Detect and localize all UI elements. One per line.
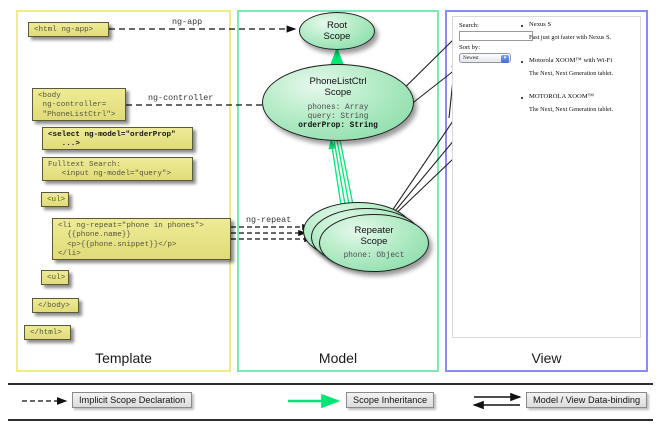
search-label: Search: — [459, 22, 479, 29]
sort-select[interactable]: Newest ▾ — [459, 53, 511, 63]
scope-repeater-title-2: Scope — [320, 236, 428, 247]
scope-repeater: Repeater Scope phone: Object — [319, 214, 429, 272]
scope-repeater-title-1: Repeater — [320, 225, 428, 236]
view-rendered-app: Search: Sort by: Newest ▾ Nexus S Fast j… — [452, 16, 641, 338]
scope-ctrl-title-2: Scope — [263, 87, 413, 98]
scope-repeater-prop-phone: phone: Object — [320, 252, 428, 261]
phone-snippet: The Next, Next Generation tablet. — [529, 70, 613, 77]
phone-name[interactable]: MOTOROLA XOOM™ — [529, 93, 594, 100]
scope-ctrl-prop-orderprop: orderProp: String — [263, 122, 413, 131]
scope-root-title-1: Root — [300, 20, 374, 31]
phone-snippet: Fast just got faster with Nexus S. — [529, 34, 611, 41]
edge-label-ng-repeat: ng-repeat — [246, 215, 291, 225]
search-input[interactable] — [459, 31, 533, 41]
code-body-close: </body> — [32, 298, 79, 313]
list-bullet — [521, 97, 523, 99]
panel-model-title: Model — [239, 350, 437, 366]
scope-ctrl-title-1: PhoneListCtrl — [263, 76, 413, 87]
sort-label: Sort by: — [459, 44, 480, 51]
code-ul-open: <ul> — [41, 192, 69, 207]
code-ul-close: <ul> — [41, 270, 69, 285]
scope-ctrl-prop-query: query: String — [263, 113, 413, 122]
panel-view-title: View — [447, 350, 646, 366]
code-input-tag: Fulltext Search: <input ng-model="query"… — [42, 157, 193, 181]
edge-label-ng-app: ng-app — [172, 17, 202, 27]
code-body-tag: <body ng-controller= "PhoneListCtrl"> — [32, 88, 126, 121]
panel-template: Template — [16, 10, 231, 372]
code-li-repeat: <li ng-repeat="phone in phones"> {{phone… — [52, 218, 231, 260]
sort-select-value: Newest — [463, 55, 479, 61]
panel-template-title: Template — [18, 350, 229, 366]
legend: Implicit Scope Declaration Scope Inherit… — [8, 383, 653, 421]
phone-snippet: The Next, Next Generation tablet. — [529, 106, 613, 113]
legend-scope-inheritance: Scope Inheritance — [346, 392, 434, 408]
scope-root: Root Scope — [299, 12, 375, 50]
phone-name[interactable]: Nexus S — [529, 21, 551, 28]
phone-name[interactable]: Motorola XOOM™ with Wi-Fi — [529, 57, 612, 64]
legend-model-view-data-binding: Model / View Data-binding — [526, 392, 647, 408]
list-bullet — [521, 25, 523, 27]
scope-ctrl-prop-phones: phones: Array — [263, 104, 413, 113]
code-html-tag: <html ng-app> — [28, 22, 109, 37]
scope-phonelistctrl: PhoneListCtrl Scope phones: Array query:… — [262, 64, 414, 141]
scope-root-title-2: Scope — [300, 31, 374, 42]
list-bullet — [521, 61, 523, 63]
code-select-tag: <select ng-model="orderProp" ...> — [42, 127, 193, 150]
chevron-down-icon: ▾ — [501, 55, 509, 63]
code-html-close: </html> — [24, 325, 71, 340]
legend-implicit-scope-declaration: Implicit Scope Declaration — [72, 392, 192, 408]
diagram-canvas: Template Model View — [0, 0, 661, 425]
edge-label-ng-controller: ng-controller — [148, 93, 213, 103]
